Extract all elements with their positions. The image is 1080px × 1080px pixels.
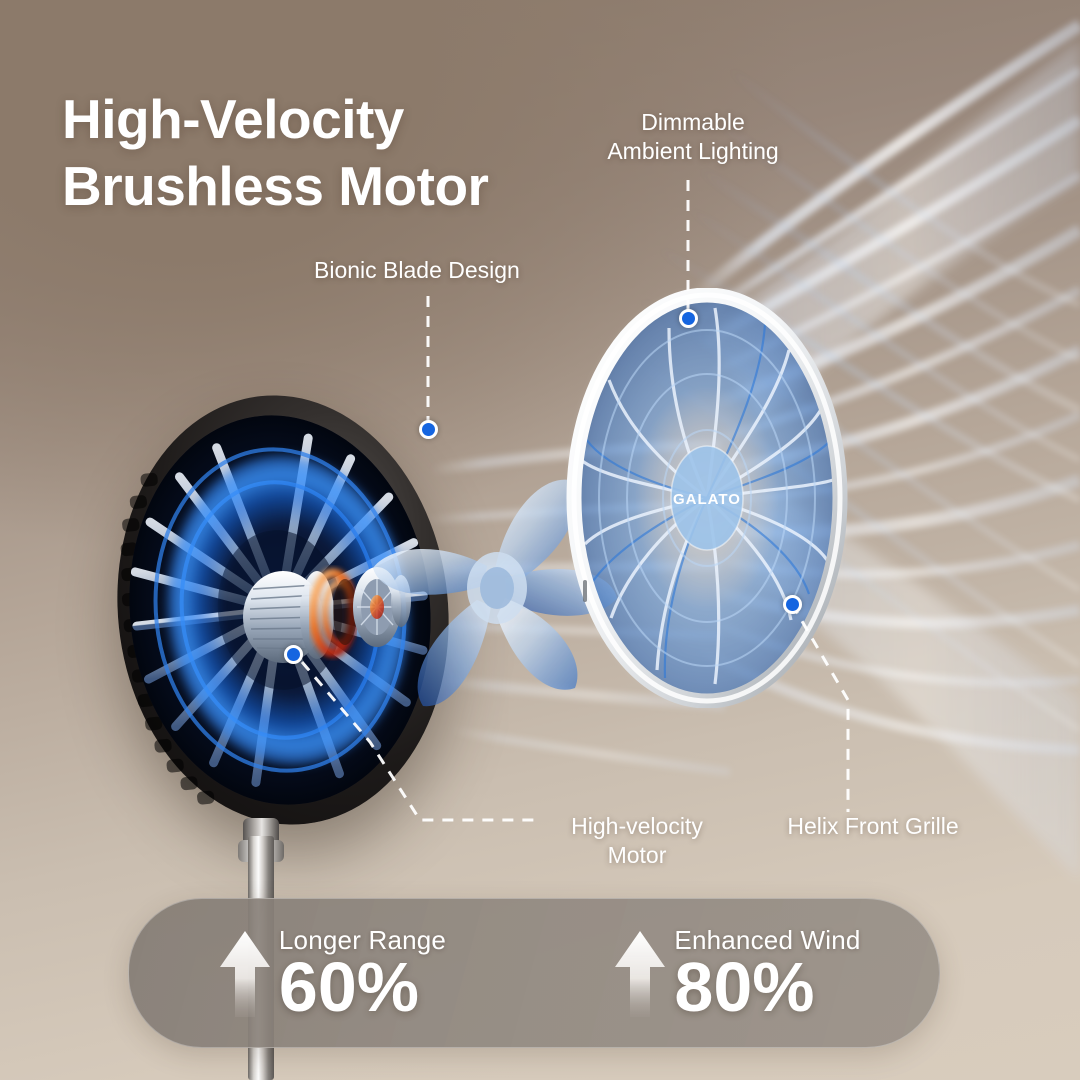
callout-dimmable-ambient-lighting: Dimmable Ambient Lighting — [588, 108, 798, 165]
up-arrow-icon — [612, 927, 668, 1019]
stats-bar: Longer Range 60% Enhanced Wind 80% — [128, 898, 940, 1048]
stat-enhanced-wind: Enhanced Wind 80% — [534, 925, 939, 1022]
stat-longer-range: Longer Range 60% — [129, 925, 534, 1022]
stat-value: 60% — [279, 952, 419, 1022]
helix-front-grille: GALATO — [565, 288, 850, 708]
stat-value: 80% — [674, 952, 814, 1022]
marker-dot-motor — [284, 645, 303, 664]
callout-helix-front-grille: Helix Front Grille — [778, 812, 968, 841]
page-title: High-Velocity Brushless Motor — [62, 86, 488, 220]
marker-dot-helix — [783, 595, 802, 614]
hub-logo: GALATO — [673, 491, 741, 508]
product-feature-graphic: GALATO High-Velocity Brushless Motor Dim… — [0, 0, 1080, 1080]
marker-dot-blade — [419, 420, 438, 439]
callout-high-velocity-motor: High-velocity Motor — [552, 812, 722, 869]
callout-bionic-blade-design: Bionic Blade Design — [314, 256, 554, 285]
up-arrow-icon — [217, 927, 273, 1019]
marker-dot-dimmable — [679, 309, 698, 328]
headline-line-2: Brushless Motor — [62, 153, 488, 220]
headline-line-1: High-Velocity — [62, 86, 488, 153]
